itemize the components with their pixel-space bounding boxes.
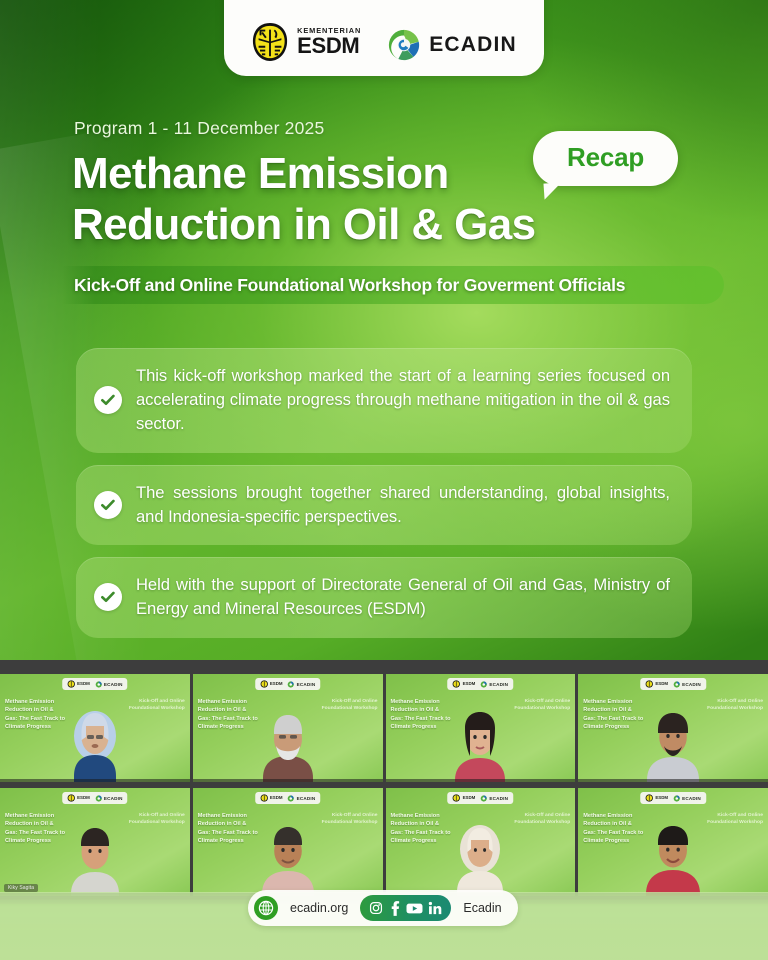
social-links-group [360, 895, 451, 921]
tile-esdm-label: ESDM [270, 796, 283, 800]
program-date-kicker: Program 1 - 11 December 2025 [74, 118, 324, 139]
tile-ecadin-logo: ECADIN [480, 795, 508, 802]
poster-canvas: KEMENTERIAN ESDM ECADIN Program 1 - 11 D… [0, 0, 768, 960]
ecadin-logo-icon [95, 795, 102, 802]
tile-side-text: Kick-Off and Online Foundational Worksho… [705, 698, 763, 713]
video-tile: ESDM ECADIN Methane Emission Reduction i… [193, 788, 383, 896]
subtitle-banner: Kick-Off and Online Foundational Worksho… [62, 266, 724, 304]
tile-esdm-logo: ESDM [67, 794, 90, 802]
ecadin-logo: ECADIN [387, 28, 517, 62]
video-tile: ESDM ECADIN Methane Emission Reduction i… [578, 788, 768, 896]
esdm-emblem-icon [453, 794, 461, 802]
recap-badge-wrapper: Recap [533, 131, 678, 186]
video-grid-row: ESDM ECADIN Methane Emission Reduction i… [0, 788, 768, 896]
page-title-line-2: Reduction in Oil & Gas [72, 199, 632, 250]
tile-esdm-label: ESDM [77, 796, 90, 800]
tile-esdm-label: ESDM [463, 796, 476, 800]
list-item: The sessions brought together shared und… [76, 465, 692, 545]
ecadin-logo-icon [673, 795, 680, 802]
esdm-wordmark: KEMENTERIAN ESDM [297, 27, 361, 57]
ecadin-logo-icon [480, 795, 487, 802]
tile-logo-bar: ESDM ECADIN [62, 792, 128, 804]
esdm-emblem-icon [453, 680, 461, 688]
tile-bottom-bar [386, 779, 576, 782]
tile-logo-bar: ESDM ECADIN [448, 792, 514, 804]
list-item: This kick-off workshop marked the start … [76, 348, 692, 453]
avatar [251, 706, 325, 782]
tile-logo-bar: ESDM ECADIN [448, 678, 514, 690]
recap-badge: Recap [533, 131, 678, 186]
avatar [58, 820, 132, 896]
tile-ecadin-logo: ECADIN [95, 681, 123, 688]
facebook-icon[interactable] [388, 901, 401, 916]
tile-bottom-bar [0, 779, 190, 782]
tile-ecadin-label: ECADIN [104, 682, 123, 687]
logo-card: KEMENTERIAN ESDM ECADIN [224, 0, 544, 76]
check-circle-icon [94, 583, 122, 611]
list-item: Held with the support of Directorate Gen… [76, 557, 692, 637]
tile-esdm-label: ESDM [655, 796, 668, 800]
tile-ecadin-logo: ECADIN [288, 681, 316, 688]
highlights-list: This kick-off workshop marked the start … [76, 348, 692, 638]
tile-side-text: Kick-Off and Online Foundational Worksho… [127, 698, 185, 713]
instagram-icon[interactable] [369, 901, 383, 915]
tile-esdm-label: ESDM [655, 682, 668, 686]
ecadin-logo-icon [288, 681, 295, 688]
tile-ecadin-logo: ECADIN [480, 681, 508, 688]
tile-ecadin-logo: ECADIN [288, 795, 316, 802]
avatar [636, 706, 710, 782]
globe-icon[interactable] [254, 896, 278, 920]
tile-esdm-logo: ESDM [260, 794, 283, 802]
video-tile: ESDM ECADIN Methane Emission Reduction i… [386, 788, 576, 896]
list-item-label: This kick-off workshop marked the start … [136, 364, 670, 437]
esdm-emblem-icon [260, 794, 268, 802]
avatar [443, 820, 517, 896]
tile-ecadin-label: ECADIN [682, 682, 701, 687]
tile-esdm-logo: ESDM [67, 680, 90, 688]
check-circle-icon [94, 386, 122, 414]
tile-ecadin-label: ECADIN [489, 682, 508, 687]
check-circle-icon [94, 491, 122, 519]
tile-logo-bar: ESDM ECADIN [255, 792, 321, 804]
esdm-emblem-icon [251, 22, 289, 62]
tile-bottom-bar [578, 779, 768, 782]
tile-bottom-bar [193, 779, 383, 782]
video-tile: ESDM ECADIN Methane Emission Reduction i… [578, 674, 768, 782]
esdm-name-text: ESDM [297, 35, 361, 57]
tile-logo-bar: ESDM ECADIN [640, 678, 706, 690]
speech-bubble-tail-icon [543, 182, 562, 199]
footer-contact-bar: ecadin.org [248, 890, 518, 926]
linkedin-icon[interactable] [428, 901, 442, 915]
avatar [443, 706, 517, 782]
avatar [251, 820, 325, 896]
ecadin-logo-icon [673, 681, 680, 688]
tile-esdm-label: ESDM [77, 682, 90, 686]
list-item-label: Held with the support of Directorate Gen… [136, 573, 670, 621]
tile-esdm-logo: ESDM [645, 794, 668, 802]
list-item-label: The sessions brought together shared und… [136, 481, 670, 529]
ecadin-logo-icon [288, 795, 295, 802]
tile-side-text: Kick-Off and Online Foundational Worksho… [320, 698, 378, 713]
ecadin-logo-icon [95, 681, 102, 688]
tile-ecadin-label: ECADIN [682, 796, 701, 801]
avatar [636, 820, 710, 896]
tile-side-text: Kick-Off and Online Foundational Worksho… [512, 698, 570, 713]
tile-side-text: Kick-Off and Online Foundational Worksho… [705, 812, 763, 827]
recap-badge-label: Recap [567, 142, 644, 172]
tile-side-text: Kick-Off and Online Foundational Worksho… [512, 812, 570, 827]
tile-ecadin-label: ECADIN [104, 796, 123, 801]
video-tile: ESDM ECADIN Methane Emission Reduction i… [0, 788, 190, 896]
tile-ecadin-logo: ECADIN [673, 795, 701, 802]
tile-side-text: Kick-Off and Online Foundational Worksho… [127, 812, 185, 827]
tile-side-text: Kick-Off and Online Foundational Worksho… [320, 812, 378, 827]
brand-name-label: Ecadin [463, 901, 501, 915]
tile-esdm-logo: ESDM [645, 680, 668, 688]
tile-esdm-label: ESDM [463, 682, 476, 686]
ecadin-logo-icon [387, 28, 421, 62]
video-tile: ESDM ECADIN Methane Emission Reduction i… [386, 674, 576, 782]
tile-ecadin-logo: ECADIN [673, 681, 701, 688]
youtube-icon[interactable] [406, 902, 423, 915]
page-title-line-1: Methane Emission [72, 149, 449, 198]
tile-esdm-logo: ESDM [260, 680, 283, 688]
tile-ecadin-label: ECADIN [297, 796, 316, 801]
participant-name-label: Kiky Sagita [4, 884, 38, 892]
video-tile: ESDM ECADIN Methane Emission Reduction i… [0, 674, 190, 782]
esdm-emblem-icon [67, 680, 75, 688]
ecadin-wordmark: ECADIN [429, 33, 517, 57]
video-grid-row: ESDM ECADIN Methane Emission Reduction i… [0, 674, 768, 782]
video-call-grid: ESDM ECADIN Methane Emission Reduction i… [0, 660, 768, 900]
tile-ecadin-logo: ECADIN [95, 795, 123, 802]
esdm-emblem-icon [260, 680, 268, 688]
subtitle-text: Kick-Off and Online Foundational Worksho… [62, 275, 625, 296]
tile-logo-bar: ESDM ECADIN [62, 678, 128, 690]
avatar [58, 706, 132, 782]
esdm-emblem-icon [645, 794, 653, 802]
esdm-logo: KEMENTERIAN ESDM [251, 22, 361, 62]
video-tile: ESDM ECADIN Methane Emission Reduction i… [193, 674, 383, 782]
tile-esdm-logo: ESDM [453, 680, 476, 688]
tile-ecadin-label: ECADIN [297, 682, 316, 687]
tile-logo-bar: ESDM ECADIN [640, 792, 706, 804]
tile-esdm-label: ESDM [270, 682, 283, 686]
esdm-emblem-icon [67, 794, 75, 802]
tile-ecadin-label: ECADIN [489, 796, 508, 801]
ecadin-logo-icon [480, 681, 487, 688]
tile-esdm-logo: ESDM [453, 794, 476, 802]
tile-logo-bar: ESDM ECADIN [255, 678, 321, 690]
esdm-emblem-icon [645, 680, 653, 688]
website-link[interactable]: ecadin.org [290, 901, 348, 915]
